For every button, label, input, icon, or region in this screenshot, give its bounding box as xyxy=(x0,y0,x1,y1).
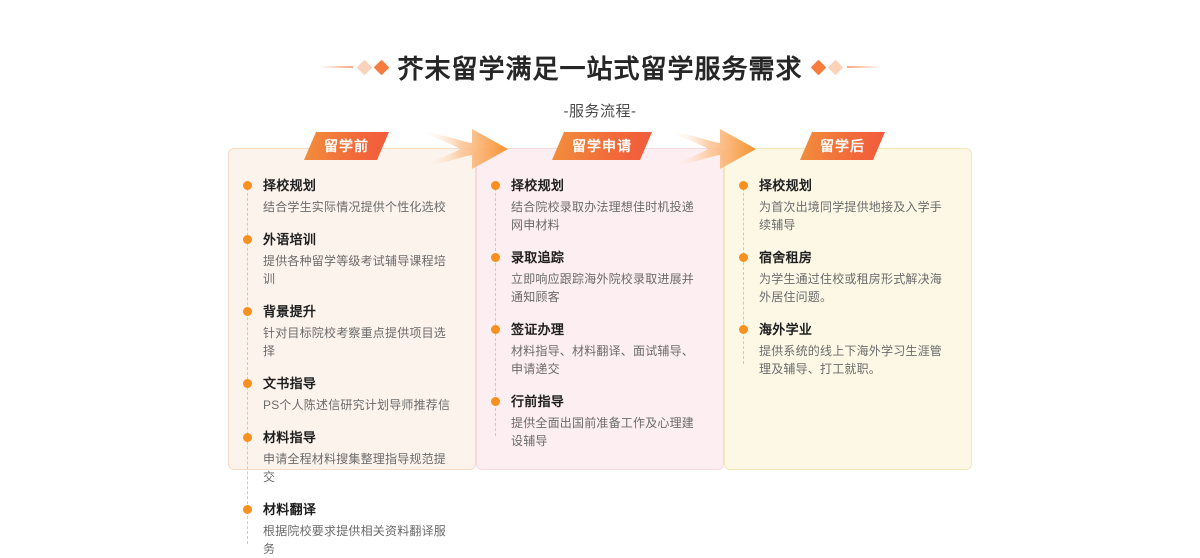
bullet-dot-icon xyxy=(243,433,252,442)
list-item[interactable]: 材料指导 申请全程材料搜集整理指导规范提交 xyxy=(243,429,453,486)
list-item[interactable]: 择校规划 结合院校录取办法理想佳时机投递网申材料 xyxy=(491,177,701,234)
item-title: 外语培训 xyxy=(263,231,453,248)
stage-panel-after-body: 择校规划 为首次出境同学提供地接及入学手续辅导 宿舍租房 为学生通过住校或租房形… xyxy=(725,149,971,469)
service-flow: 择校规划 结合学生实际情况提供个性化选校 外语培训 提供各种留学等级考试辅导课程… xyxy=(228,148,972,470)
item-title: 签证办理 xyxy=(511,321,701,338)
stage-panel-application: 择校规划 结合院校录取办法理想佳时机投递网申材料 录取追踪 立即响应跟踪海外院校… xyxy=(476,148,724,470)
item-title: 择校规划 xyxy=(511,177,701,194)
item-description: 根据院校要求提供相关资料翻译服务 xyxy=(263,522,453,558)
stage-application-item-list: 择校规划 结合院校录取办法理想佳时机投递网申材料 录取追踪 立即响应跟踪海外院校… xyxy=(491,177,701,450)
bullet-dot-icon xyxy=(739,253,748,262)
page-title: 芥末留学满足一站式留学服务需求 xyxy=(397,49,802,86)
diamond-solid-left-icon xyxy=(374,59,390,75)
item-description: 材料指导、材料翻译、面试辅导、申请递交 xyxy=(511,342,701,378)
item-description: 提供各种留学等级考试辅导课程培训 xyxy=(263,252,453,288)
diamond-solid-right-icon xyxy=(810,59,826,75)
list-item[interactable]: 签证办理 材料指导、材料翻译、面试辅导、申请递交 xyxy=(491,321,701,378)
bullet-dot-icon xyxy=(491,325,500,334)
bullet-dot-icon xyxy=(243,505,252,514)
stage-after-item-list: 择校规划 为首次出境同学提供地接及入学手续辅导 宿舍租房 为学生通过住校或租房形… xyxy=(739,177,949,378)
stage-before-item-list: 择校规划 结合学生实际情况提供个性化选校 外语培训 提供各种留学等级考试辅导课程… xyxy=(243,177,453,558)
bullet-dot-icon xyxy=(243,235,252,244)
deco-line-right-icon xyxy=(847,66,881,68)
stage-panel-before: 择校规划 结合学生实际情况提供个性化选校 外语培训 提供各种留学等级考试辅导课程… xyxy=(228,148,476,470)
list-item[interactable]: 外语培训 提供各种留学等级考试辅导课程培训 xyxy=(243,231,453,288)
title-decoration-left xyxy=(319,62,387,73)
item-title: 择校规划 xyxy=(263,177,453,194)
stage-badge-application[interactable]: 留学申请 xyxy=(552,132,652,160)
stage-panel-before-body: 择校规划 结合学生实际情况提供个性化选校 外语培训 提供各种留学等级考试辅导课程… xyxy=(229,149,475,469)
bullet-dot-icon xyxy=(739,325,748,334)
bullet-dot-icon xyxy=(491,181,500,190)
item-title: 录取追踪 xyxy=(511,249,701,266)
bullet-dot-icon xyxy=(739,181,748,190)
item-title: 择校规划 xyxy=(759,177,949,194)
bullet-dot-icon xyxy=(491,397,500,406)
list-item[interactable]: 行前指导 提供全面出国前准备工作及心理建设辅导 xyxy=(491,393,701,450)
stage-badge-before[interactable]: 留学前 xyxy=(304,132,389,160)
item-description: 提供全面出国前准备工作及心理建设辅导 xyxy=(511,414,701,450)
stage-badge-after-label: 留学后 xyxy=(820,132,865,160)
bullet-dot-icon xyxy=(243,379,252,388)
title-row: 芥末留学满足一站式留学服务需求 xyxy=(0,44,1200,90)
page-header: 芥末留学满足一站式留学服务需求 -服务流程- xyxy=(0,0,1200,121)
item-description: 立即响应跟踪海外院校录取进展并通知顾客 xyxy=(511,270,701,306)
stage-panel-application-body: 择校规划 结合院校录取办法理想佳时机投递网申材料 录取追踪 立即响应跟踪海外院校… xyxy=(477,149,723,469)
item-description: 申请全程材料搜集整理指导规范提交 xyxy=(263,450,453,486)
item-description: 结合学生实际情况提供个性化选校 xyxy=(263,198,453,216)
item-title: 行前指导 xyxy=(511,393,701,410)
item-title: 文书指导 xyxy=(263,375,453,392)
item-title: 宿舍租房 xyxy=(759,249,949,266)
diamond-light-left-icon xyxy=(357,59,373,75)
item-title: 材料翻译 xyxy=(263,501,453,518)
page-subtitle: -服务流程- xyxy=(0,100,1200,121)
item-description: 为首次出境同学提供地接及入学手续辅导 xyxy=(759,198,949,234)
bullet-dot-icon xyxy=(243,181,252,190)
list-item[interactable]: 文书指导 PS个人陈述信研究计划导师推荐信 xyxy=(243,375,453,414)
item-description: 提供系统的线上下海外学习生涯管理及辅导、打工就职。 xyxy=(759,342,949,378)
diamond-light-right-icon xyxy=(827,59,843,75)
list-item[interactable]: 择校规划 为首次出境同学提供地接及入学手续辅导 xyxy=(739,177,949,234)
item-title: 材料指导 xyxy=(263,429,453,446)
stage-badges: 留学前 留学申请 留学后 xyxy=(228,132,972,164)
list-item[interactable]: 海外学业 提供系统的线上下海外学习生涯管理及辅导、打工就职。 xyxy=(739,321,949,378)
list-item[interactable]: 录取追踪 立即响应跟踪海外院校录取进展并通知顾客 xyxy=(491,249,701,306)
title-decoration-right xyxy=(813,62,881,73)
stage-badge-application-label: 留学申请 xyxy=(572,132,632,160)
item-title: 背景提升 xyxy=(263,303,453,320)
stage-panel-after: 择校规划 为首次出境同学提供地接及入学手续辅导 宿舍租房 为学生通过住校或租房形… xyxy=(724,148,972,470)
list-item[interactable]: 宿舍租房 为学生通过住校或租房形式解决海外居住问题。 xyxy=(739,249,949,306)
item-description: 针对目标院校考察重点提供项目选择 xyxy=(263,324,453,360)
list-item[interactable]: 择校规划 结合学生实际情况提供个性化选校 xyxy=(243,177,453,216)
stage-badge-before-label: 留学前 xyxy=(324,132,369,160)
item-description: 为学生通过住校或租房形式解决海外居住问题。 xyxy=(759,270,949,306)
stage-panels: 择校规划 结合学生实际情况提供个性化选校 外语培训 提供各种留学等级考试辅导课程… xyxy=(228,148,972,470)
bullet-dot-icon xyxy=(243,307,252,316)
bullet-dot-icon xyxy=(491,253,500,262)
item-description: 结合院校录取办法理想佳时机投递网申材料 xyxy=(511,198,701,234)
list-item[interactable]: 背景提升 针对目标院校考察重点提供项目选择 xyxy=(243,303,453,360)
stage-badge-after[interactable]: 留学后 xyxy=(800,132,885,160)
list-item[interactable]: 材料翻译 根据院校要求提供相关资料翻译服务 xyxy=(243,501,453,558)
deco-line-left-icon xyxy=(319,66,353,68)
item-description: PS个人陈述信研究计划导师推荐信 xyxy=(263,396,453,414)
item-title: 海外学业 xyxy=(759,321,949,338)
